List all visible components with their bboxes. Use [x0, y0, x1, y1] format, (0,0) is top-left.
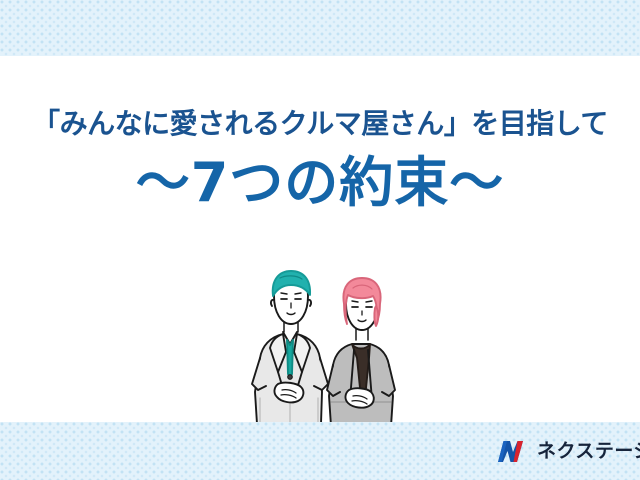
female-staff-figure: [327, 278, 395, 426]
nextage-n-mark-icon: [492, 438, 530, 465]
male-staff-figure: [252, 271, 328, 424]
brand-name-text: ネクステージ: [537, 442, 640, 461]
brand-logo: ネクステージ: [492, 436, 640, 466]
headline-primary-text: 「みんなに愛されるクルマ屋さん」を目指して: [0, 108, 640, 140]
headline-block: 「みんなに愛されるクルマ屋さん」を目指して 〜7つの約束〜: [0, 108, 640, 213]
bowing-staff-illustration: [236, 266, 416, 431]
staff-illustration-svg: [236, 266, 416, 431]
promise-banner: 「みんなに愛されるクルマ屋さん」を目指して 〜7つの約束〜: [0, 0, 640, 480]
top-dotted-band: [0, 0, 640, 56]
headline-secondary-text: 〜7つの約束〜: [0, 154, 640, 212]
